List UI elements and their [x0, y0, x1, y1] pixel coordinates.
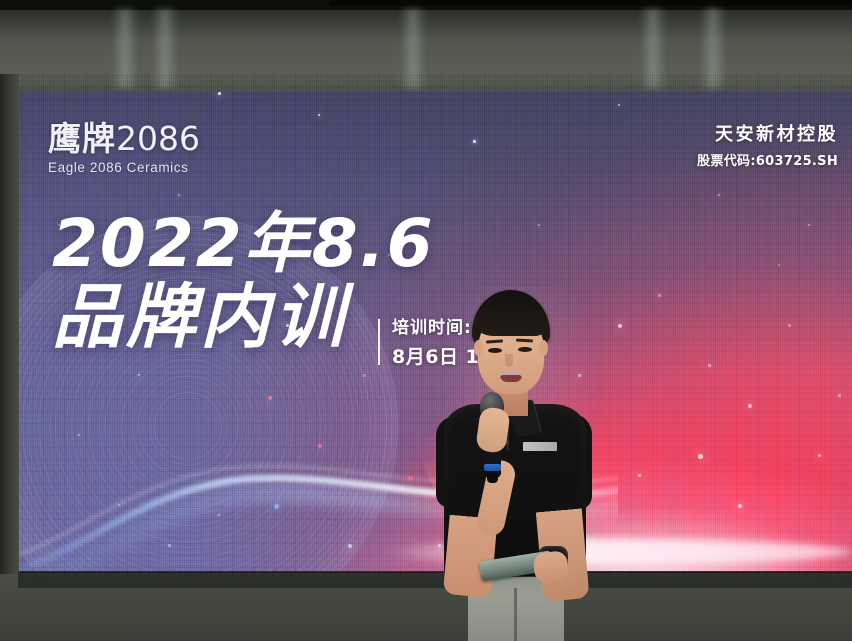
brand-logo-chinese: 鹰牌2086 [48, 122, 200, 155]
wall-sheen-3 [400, 8, 426, 88]
corporate-info: 天安新材控股 股票代码:603725.SH [697, 124, 838, 169]
wall-sheen-1 [112, 8, 138, 88]
screen-left-bezel [0, 74, 19, 574]
brand-logo-number: 2086 [116, 119, 200, 158]
presenter-ear-right [539, 340, 548, 356]
brand-logo-english: Eagle 2086 Ceramics [48, 160, 200, 175]
shirt-chest-logo [523, 442, 557, 451]
headline-line-1: 2022年8.6 [52, 212, 435, 276]
presenter-figure [430, 290, 600, 641]
upper-wall [0, 0, 852, 92]
wall-sheen-5 [700, 8, 726, 88]
presenter-mouth [500, 372, 522, 382]
presenter-fringe [474, 304, 548, 336]
corporate-company-name: 天安新材控股 [697, 124, 838, 147]
presenter-eye-left [488, 348, 502, 353]
presenter-ear-left [474, 340, 483, 356]
presenter-eye-right [518, 347, 532, 352]
microphone-indicator-ring [484, 464, 501, 471]
wall-sheen-2 [152, 8, 178, 88]
ceiling-shadow-right [330, 0, 852, 6]
microphone-base [487, 471, 498, 483]
wall-sheen-4 [640, 8, 666, 88]
brand-logo: 鹰牌2086 Eagle 2086 Ceramics [48, 122, 200, 175]
corporate-stock-code: 股票代码:603725.SH [697, 150, 838, 169]
presentation-photo-scene: 鹰牌2086 Eagle 2086 Ceramics 天安新材控股 股票代码:6… [0, 0, 852, 641]
presenter-nose [505, 354, 513, 367]
